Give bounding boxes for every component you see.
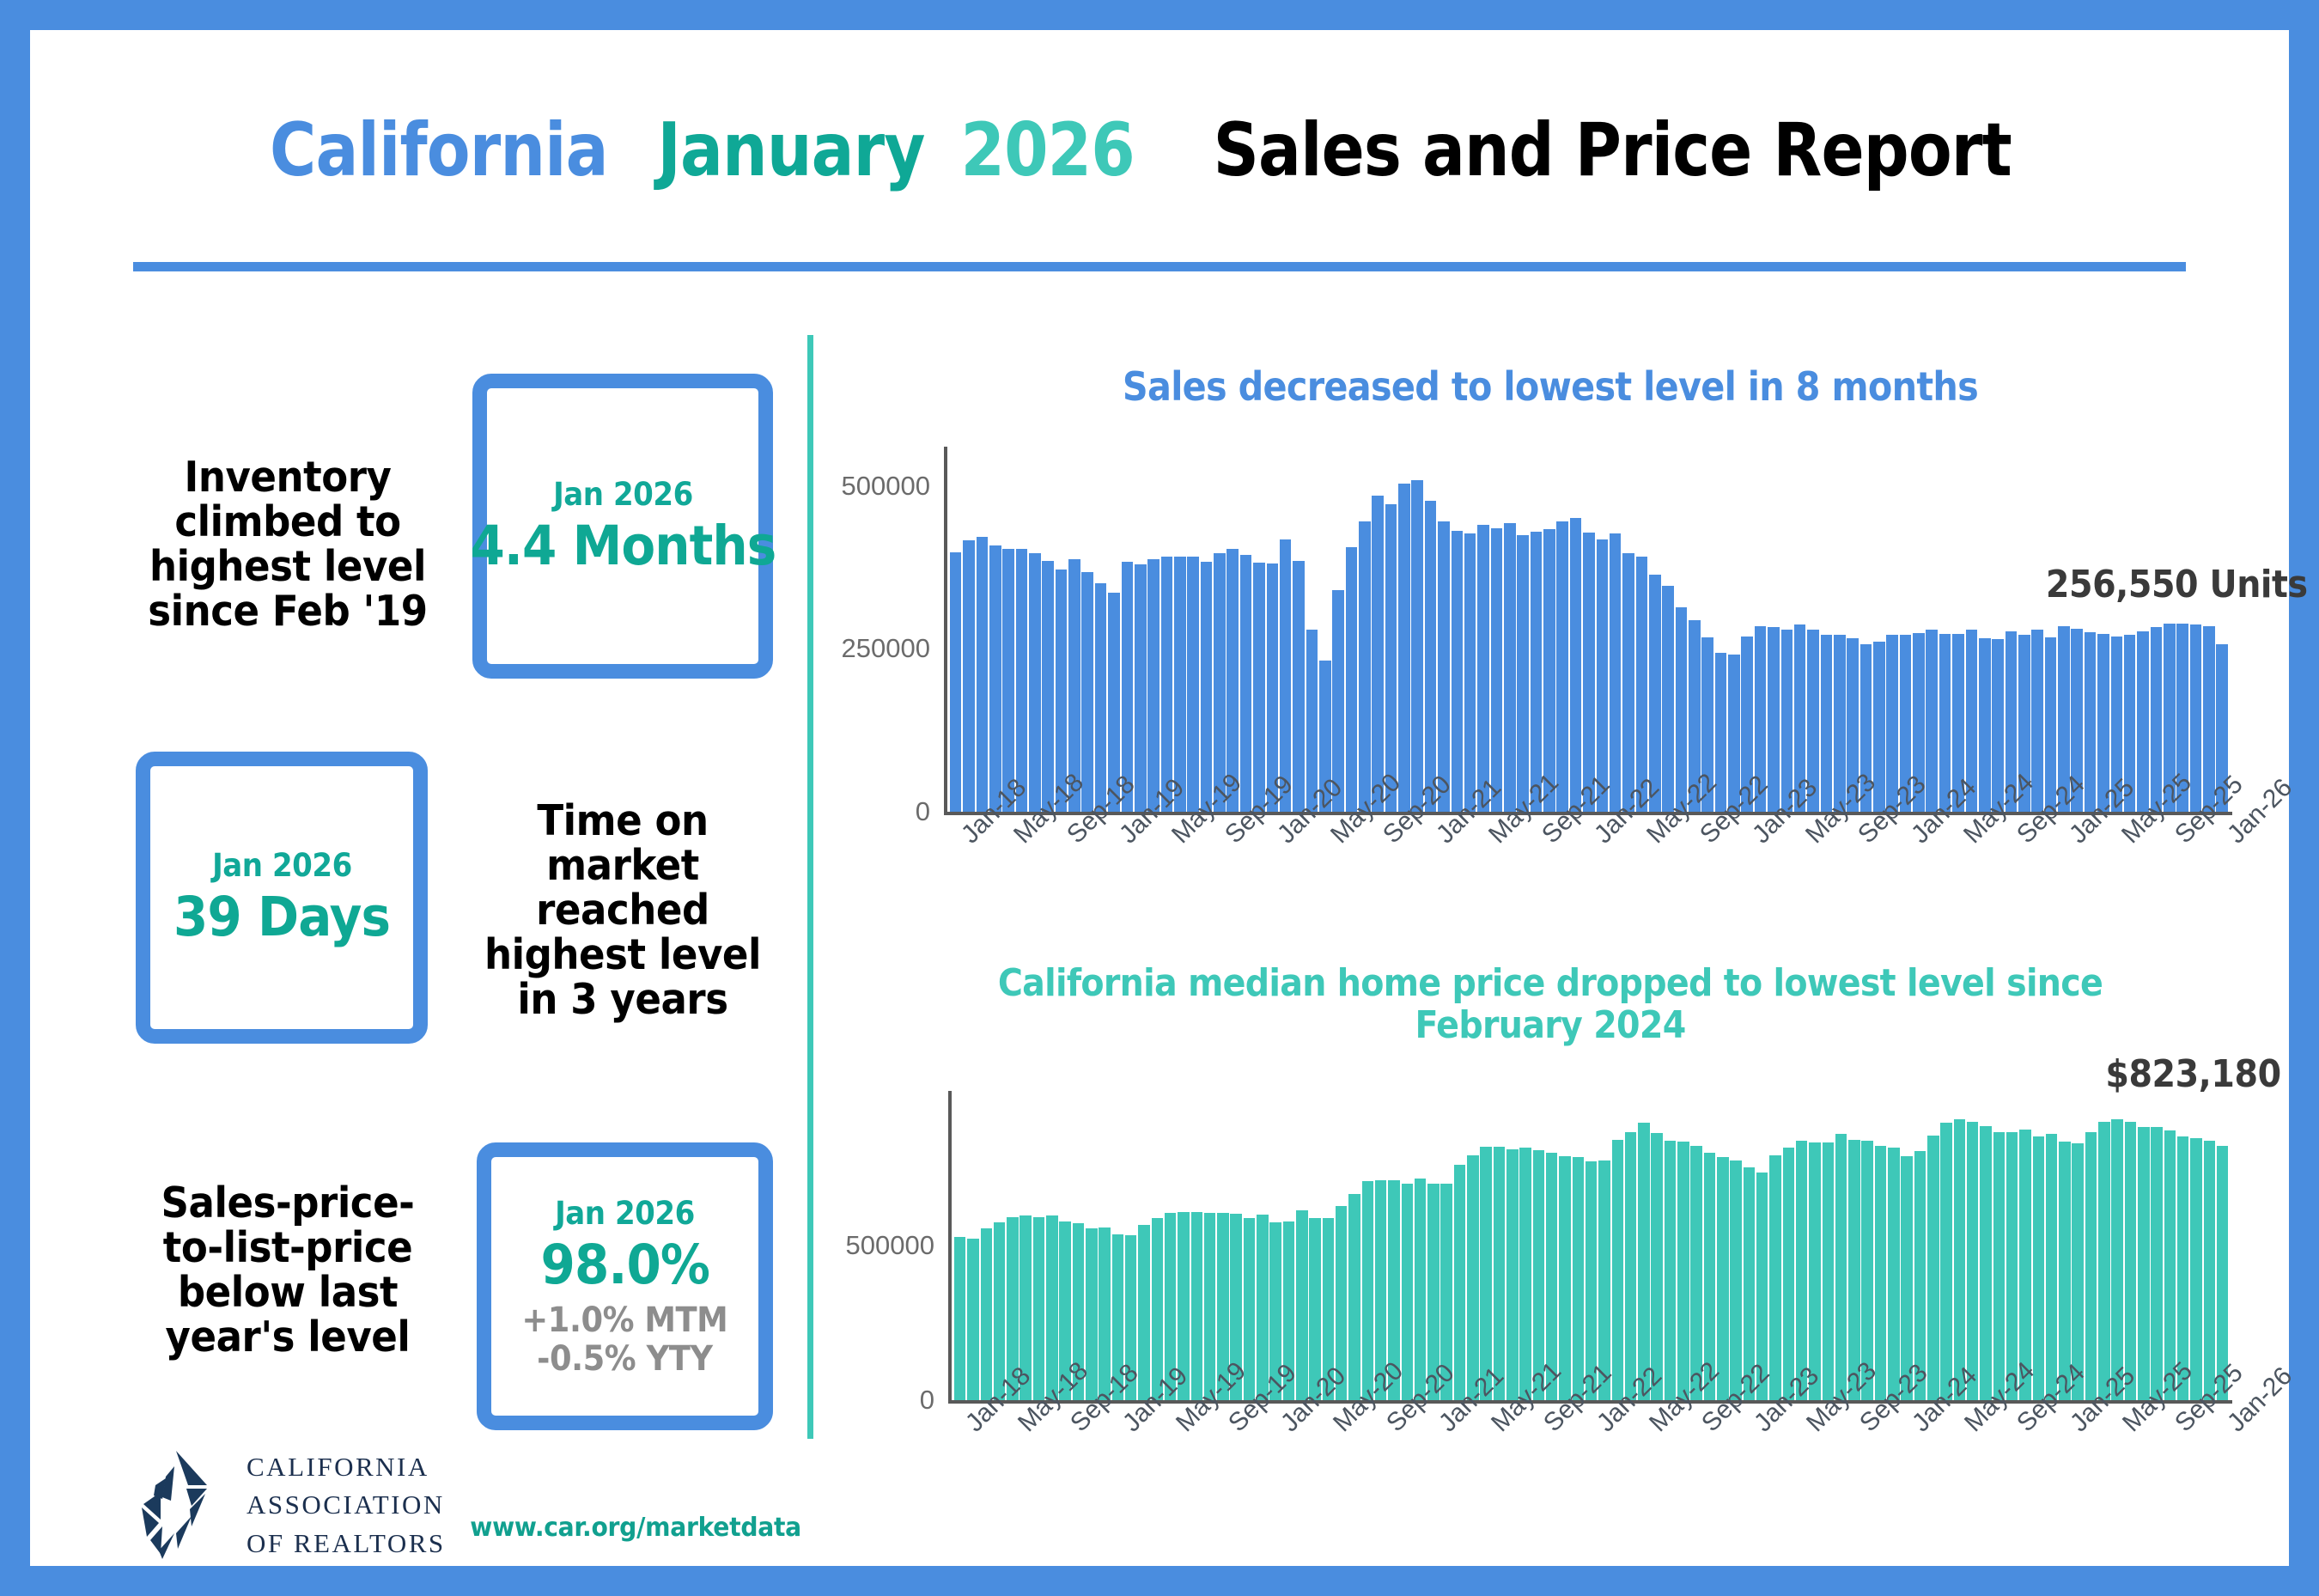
bar (1993, 1132, 2006, 1400)
bar (1385, 504, 1397, 812)
bar (1452, 531, 1464, 812)
bar (1477, 525, 1489, 812)
bar (1402, 1184, 1414, 1400)
bar (2204, 1141, 2216, 1400)
bar (2046, 1134, 2058, 1400)
price-x-tick-labels: Jan-18May-18Sep-18Jan-19May-19Sep-19Jan-… (953, 1400, 2229, 1512)
bar (1927, 1136, 1939, 1400)
bar (1348, 1194, 1360, 1400)
stat-date-days: Jan 2026 (212, 847, 352, 884)
bar (2151, 1127, 2163, 1400)
title-part-report: Sales and Price Report (1214, 107, 2012, 193)
bar (1926, 630, 1938, 813)
sales-chart-title: Sales decreased to lowest level in 8 mon… (909, 365, 2192, 410)
bar (1504, 523, 1516, 812)
bar (1875, 1146, 1887, 1400)
bar (1676, 607, 1688, 812)
bar (1187, 557, 1199, 812)
stat-value-months: 4.4 Months (470, 515, 776, 577)
bar (1717, 1157, 1729, 1400)
bar (1769, 1155, 1781, 1400)
sales-bar-chart: Jan-18May-18Sep-18Jan-19May-19Sep-19Jan-… (949, 447, 2229, 812)
bar (1531, 532, 1543, 812)
bar (2098, 1122, 2110, 1400)
title-part-year: 2026 (960, 107, 1134, 193)
bar (1730, 1160, 1742, 1400)
bar (1467, 1155, 1479, 1400)
stat-value-splp: 98.0% (540, 1234, 709, 1296)
stat-box-months-supply: Jan 2026 4.4 Months (472, 374, 773, 679)
car-logo: CALIFORNIA ASSOCIATION OF REALTORS (125, 1447, 446, 1563)
bar (1662, 586, 1674, 812)
bar (1398, 484, 1410, 812)
bar (2190, 1138, 2202, 1400)
bar (1029, 553, 1041, 812)
bar (1135, 564, 1147, 812)
bar (1494, 1147, 1506, 1400)
bar (1625, 1132, 1637, 1400)
bar (989, 545, 1001, 812)
price-callout-value: $823,180 (2105, 1052, 2280, 1096)
market-data-url[interactable]: www.car.org/marketdata (470, 1513, 801, 1543)
bar (1612, 1140, 1624, 1400)
bar (2033, 1136, 2045, 1400)
infographic-page: California January 2026 Sales and Price … (0, 0, 2319, 1596)
bar (1979, 638, 1991, 812)
price-bars (953, 1091, 2229, 1400)
stat-sub-mtm: +1.0% MTM (522, 1301, 728, 1340)
bar (1517, 535, 1529, 812)
bar (1940, 1123, 1952, 1400)
bar (1573, 1157, 1585, 1400)
bar (1649, 575, 1661, 812)
bar (1651, 1133, 1663, 1400)
y-tick-label: 0 (916, 796, 930, 827)
bar (1556, 521, 1568, 812)
bar (1346, 547, 1358, 812)
car-logo-mark (125, 1447, 228, 1563)
bar (1174, 557, 1186, 812)
stat-box-sale-to-list: Jan 2026 98.0% +1.0% MTM -0.5% YTY (477, 1142, 773, 1430)
y-tick-label: 500000 (846, 1230, 934, 1261)
highlight-blurb-sale-to-list: Sales-price-to-list-price below last yea… (137, 1181, 438, 1360)
bar (1280, 539, 1292, 812)
vertical-divider (807, 335, 813, 1439)
stat-sub-splp: +1.0% MTM -0.5% YTY (522, 1301, 728, 1379)
bar (1622, 553, 1634, 812)
bar (2111, 1119, 2123, 1400)
bar (1362, 1181, 1374, 1400)
bar (1332, 590, 1344, 812)
bar (981, 1228, 993, 1400)
y-tick-label: 0 (920, 1385, 934, 1416)
bar (1796, 1141, 1808, 1400)
bar (1411, 480, 1423, 812)
price-y-axis (948, 1091, 952, 1400)
bar (1491, 528, 1503, 812)
bar (1204, 1213, 1216, 1400)
bar (2137, 631, 2149, 812)
bar (1002, 549, 1014, 812)
stat-value-days: 39 Days (173, 886, 390, 948)
bar (1636, 557, 1648, 813)
bar (1823, 1142, 1835, 1400)
title-part-january: January (657, 107, 924, 193)
bar (1768, 627, 1780, 812)
y-tick-label: 500000 (842, 471, 930, 502)
bar (1042, 561, 1054, 812)
stat-box-days-on-market: Jan 2026 39 Days (136, 752, 428, 1044)
stat-date-months: Jan 2026 (553, 476, 693, 513)
highlight-blurb-time-on-market: Time on market reached highest level in … (472, 799, 773, 1022)
bar (1980, 1126, 1992, 1400)
bar (2125, 1122, 2137, 1400)
bar (1161, 557, 1173, 813)
bar (1425, 501, 1437, 812)
bar (1638, 1123, 1650, 1400)
bar (1821, 635, 1833, 812)
bar (1359, 521, 1371, 812)
bar (967, 1239, 979, 1400)
bar (1095, 583, 1107, 812)
bar (1677, 1142, 1689, 1400)
stat-date-splp: Jan 2026 (555, 1195, 695, 1232)
bar (1519, 1148, 1531, 1400)
bar (1559, 1156, 1571, 1400)
bar (1191, 1212, 1203, 1400)
bar (1081, 572, 1093, 812)
bar (1464, 533, 1476, 812)
bar (1888, 1148, 1900, 1400)
bar (950, 552, 962, 812)
bar (963, 540, 975, 812)
page-title: California January 2026 Sales and Price … (30, 107, 2289, 193)
bar (1138, 1225, 1150, 1400)
bar (1372, 496, 1384, 812)
bar (1809, 1142, 1821, 1400)
bar (1147, 559, 1159, 812)
bar (2085, 632, 2097, 812)
bar (1033, 1217, 1045, 1400)
bar (977, 537, 989, 812)
bar (1610, 533, 1622, 812)
bar (1415, 1179, 1427, 1400)
title-divider-rule (133, 262, 2186, 271)
sales-x-tick-labels: Jan-18May-18Sep-18Jan-19May-19Sep-19Jan-… (949, 812, 2229, 923)
bar (1253, 563, 1265, 812)
bar (2138, 1127, 2150, 1400)
logo-line-3: OF REALTORS (247, 1525, 446, 1562)
bar (1583, 533, 1595, 812)
bar (1438, 521, 1450, 812)
bar (1665, 1141, 1677, 1400)
logo-line-1: CALIFORNIA (247, 1448, 446, 1486)
stat-sub-yty: -0.5% YTY (522, 1340, 728, 1379)
bar (1201, 562, 1213, 812)
bar (2085, 1132, 2097, 1400)
bar (1293, 561, 1305, 812)
bar (1016, 549, 1028, 812)
title-part-california: California (270, 107, 608, 193)
price-chart-title: California median home price dropped to … (909, 962, 2192, 1047)
infographic-canvas: California January 2026 Sales and Price … (30, 30, 2289, 1566)
bar (1954, 1119, 1966, 1400)
sales-y-axis (944, 447, 947, 812)
bar (1506, 1149, 1519, 1400)
bar (1296, 1210, 1308, 1400)
car-logo-text: CALIFORNIA ASSOCIATION OF REALTORS (247, 1448, 446, 1562)
bar (1597, 539, 1609, 812)
bar (1454, 1165, 1466, 1400)
highlight-blurb-inventory: Inventory climbed to highest level since… (142, 455, 434, 634)
bar (954, 1237, 966, 1400)
bar (1570, 518, 1582, 812)
bar (1835, 1134, 1847, 1400)
bar (1240, 555, 1252, 812)
y-tick-label: 250000 (842, 633, 930, 664)
bar (1783, 1148, 1795, 1400)
sales-bars (949, 447, 2229, 812)
logo-line-2: ASSOCIATION (247, 1486, 446, 1524)
price-bar-chart: Jan-18May-18Sep-18Jan-19May-19Sep-19Jan-… (953, 1091, 2229, 1400)
bar (1967, 1122, 1979, 1400)
